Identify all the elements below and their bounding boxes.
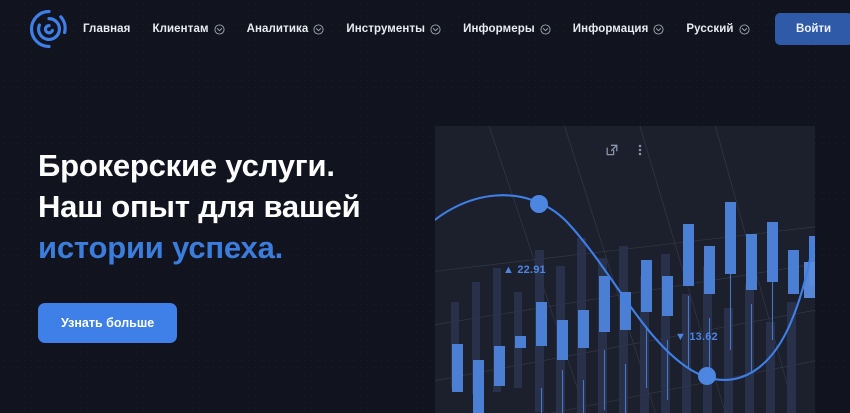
nav-item-label: Русский [686,23,733,35]
nav-item-language-russkiy[interactable]: Русский [675,17,760,41]
chevron-down-circle-icon [739,24,750,35]
site-header: Главная Клиентам Аналитика Инструменты [0,0,850,58]
candlestick-chart [435,126,815,413]
open-external-icon [605,143,619,157]
login-button[interactable]: Войти [775,13,850,45]
more-options-icon [633,143,647,157]
chevron-down-circle-icon [653,24,664,35]
chart-toolbar [600,138,652,162]
hero-section: Брокерские услуги. Наш опыт для вашей ис… [0,58,850,413]
page-title: Брокерские услуги. Наш опыт для вашей ис… [38,146,435,269]
nav-item-informery[interactable]: Информеры [452,17,562,41]
brand-logo[interactable] [26,6,72,52]
nav-item-label: Клиентам [152,23,208,35]
main-navigation: Главная Клиентам Аналитика Инструменты [72,13,850,45]
chart-low-marker-dot [698,367,716,385]
chevron-down-circle-icon [430,24,441,35]
learn-more-button[interactable]: Узнать больше [38,303,177,343]
nav-item-label: Главная [83,23,130,35]
chevron-down-circle-icon [214,24,225,35]
chevron-down-circle-icon [313,24,324,35]
chart-low-value-label: ▼ 13.62 [675,331,718,343]
chart-high-marker-dot [530,195,548,213]
nav-item-label: Информеры [463,23,535,35]
nav-item-klientam[interactable]: Клиентам [141,17,235,41]
open-external-button[interactable] [600,138,624,162]
headline-line-3-accent: истории успеха. [38,230,283,265]
chart-high-value-label: ▲ 22.91 [503,264,546,276]
nav-item-informaciya[interactable]: Информация [562,17,676,41]
nav-item-instrumenty[interactable]: Инструменты [335,17,452,41]
nav-item-label: Аналитика [247,23,309,35]
nav-item-glavnaya[interactable]: Главная [72,17,141,41]
chart-panel: ▲ 22.91 ▼ 13.62 [435,126,815,413]
spiral-swirl-logo-icon [26,6,72,52]
more-options-button[interactable] [628,138,652,162]
chart-candle-bodies [452,202,815,413]
nav-item-analitika[interactable]: Аналитика [236,17,336,41]
headline-line-2: Наш опыт для вашей [38,189,361,224]
nav-item-label: Инструменты [346,23,425,35]
nav-item-label: Информация [573,23,649,35]
hero-content: Брокерские услуги. Наш опыт для вашей ис… [0,58,435,413]
chevron-down-circle-icon [540,24,551,35]
headline-line-1: Брокерские услуги. [38,148,335,183]
